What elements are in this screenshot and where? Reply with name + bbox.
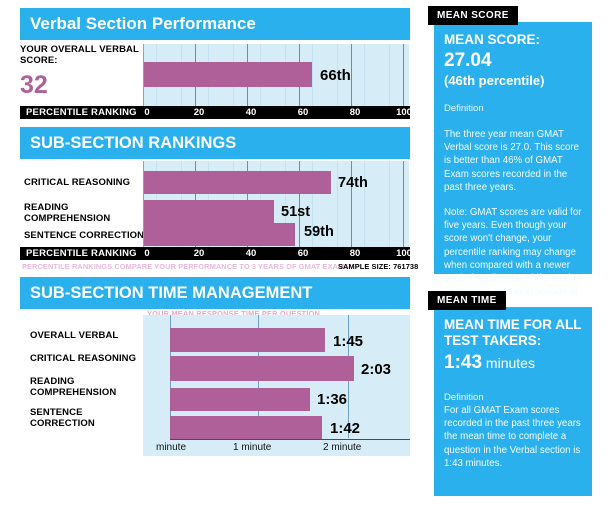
verbal-axis-strip: PERCENTILE RANKING 0 20 40 60 80 100 — [20, 106, 410, 119]
verbal-plot-area: 66th — [143, 44, 409, 106]
rank-bar-sentence-correction — [144, 223, 295, 246]
mean-time-value: 1:43 — [444, 352, 482, 373]
time-label-reading-comprehension: 1:36 — [317, 391, 347, 408]
verbal-tick-20: 20 — [194, 106, 205, 119]
time-bar-sentence-correction — [170, 416, 322, 440]
time-tick-minute: minute — [156, 442, 186, 453]
rankings-tick-100: 100 — [396, 247, 412, 260]
mean-score-percentile: (46th percentile) — [444, 72, 582, 89]
verbal-tick-40: 40 — [246, 106, 257, 119]
verbal-score-bar — [144, 62, 312, 87]
overall-score-box: YOUR OVERALL VERBAL SCORE: 32 — [20, 44, 142, 98]
overall-score-caption: YOUR OVERALL VERBAL SCORE: — [20, 44, 142, 66]
rank-label-sentence-correction: 59th — [304, 224, 334, 240]
subsection-rankings-title: SUB-SECTION RANKINGS — [20, 127, 410, 159]
mean-time-value-unit: minutes — [482, 355, 535, 371]
mean-score-definition-label: Definition — [444, 102, 582, 115]
mean-time-heading-line1: MEAN TIME FOR ALL — [444, 317, 582, 333]
rankings-tick-80: 80 — [350, 247, 361, 260]
verbal-tick-0: 0 — [144, 106, 149, 119]
time-bar-reading-comprehension — [170, 388, 310, 411]
mean-score-tag: MEAN SCORE — [428, 6, 518, 25]
verbal-performance-panel: Verbal Section Performance — [20, 8, 410, 40]
time-plot-area: 1:45 2:03 1:36 1:42 minute 1 minute 2 mi… — [143, 315, 410, 456]
rankings-tick-20: 20 — [194, 247, 205, 260]
time-cat-critical-reasoning: CRITICAL REASONING — [30, 353, 136, 364]
time-cat-overall-verbal: OVERALL VERBAL — [30, 330, 118, 341]
rankings-plot-area: 74th 51st 59th — [143, 161, 409, 247]
mean-score-heading: MEAN SCORE: — [444, 32, 582, 48]
mean-time-panel: MEAN TIME FOR ALL TEST TAKERS: 1:43 minu… — [434, 307, 592, 496]
rank-label-critical-reasoning: 74th — [338, 175, 368, 191]
time-management-panel: SUB-SECTION TIME MANAGEMENT — [20, 277, 410, 309]
verbal-tick-60: 60 — [298, 106, 309, 119]
verbal-tick-80: 80 — [350, 106, 361, 119]
time-label-overall-verbal: 1:45 — [333, 333, 363, 350]
rankings-axis-strip: PERCENTILE RANKING 0 20 40 60 80 100 — [20, 247, 410, 260]
time-tick-2-minute: 2 minute — [323, 442, 361, 453]
verbal-performance-chart: YOUR OVERALL VERBAL SCORE: 32 66th — [20, 44, 410, 106]
mean-time-tag: MEAN TIME — [428, 291, 506, 310]
rankings-tick-40: 40 — [246, 247, 257, 260]
time-management-title: SUB-SECTION TIME MANAGEMENT — [20, 277, 410, 309]
rank-bar-critical-reasoning — [144, 171, 331, 194]
rank-cat-sentence-correction: SENTENCE CORRECTION — [24, 230, 144, 241]
overall-score-value: 32 — [20, 72, 142, 98]
time-cat-reading-comprehension: READING COMPREHENSION — [30, 376, 110, 398]
rank-bar-reading-comprehension — [144, 200, 274, 223]
time-bar-critical-reasoning — [170, 356, 354, 381]
subsection-rankings-panel: SUB-SECTION RANKINGS — [20, 127, 410, 159]
rankings-sample-size: SAMPLE SIZE: 761738 — [338, 262, 418, 271]
rankings-footnote: PERCENTILE RANKINGS COMPARE YOUR PERFORM… — [22, 262, 349, 271]
verbal-axis-label: PERCENTILE RANKING — [26, 106, 137, 119]
mean-time-paragraph-1: For all GMAT Exam scores recorded in the… — [444, 404, 582, 470]
rank-cat-reading-comprehension: READING COMPREHENSION — [24, 202, 129, 224]
mean-score-value: 27.04 — [444, 49, 582, 72]
time-label-sentence-correction: 1:42 — [330, 420, 360, 437]
verbal-tick-100: 100 — [396, 106, 412, 119]
report-canvas: Verbal Section Performance YOUR OVERALL … — [0, 0, 612, 506]
rankings-tick-60: 60 — [298, 247, 309, 260]
subsection-rankings-chart: CRITICAL REASONING READING COMPREHENSION… — [20, 161, 410, 247]
rankings-tick-0: 0 — [144, 247, 149, 260]
verbal-performance-title: Verbal Section Performance — [20, 8, 410, 40]
verbal-score-bar-label: 66th — [320, 67, 351, 84]
mean-time-definition-label: Definition — [444, 391, 582, 404]
rank-cat-critical-reasoning: CRITICAL REASONING — [24, 177, 130, 188]
rank-label-reading-comprehension: 51st — [281, 204, 310, 220]
time-category-labels: OVERALL VERBAL CRITICAL REASONING READIN… — [20, 315, 143, 455]
rankings-axis-label: PERCENTILE RANKING — [26, 247, 137, 260]
time-cat-sentence-correction: SENTENCE CORRECTION — [30, 407, 143, 429]
mean-score-paragraph-1: The three year mean GMAT Verbal score is… — [444, 128, 582, 194]
time-label-critical-reasoning: 2:03 — [361, 361, 391, 378]
time-tick-1-minute: 1 minute — [233, 442, 271, 453]
mean-time-heading-line2: TEST TAKERS: — [444, 333, 582, 349]
mean-score-panel: MEAN SCORE: 27.04 (46th percentile) Defi… — [434, 22, 592, 274]
time-bar-overall-verbal — [170, 328, 325, 352]
